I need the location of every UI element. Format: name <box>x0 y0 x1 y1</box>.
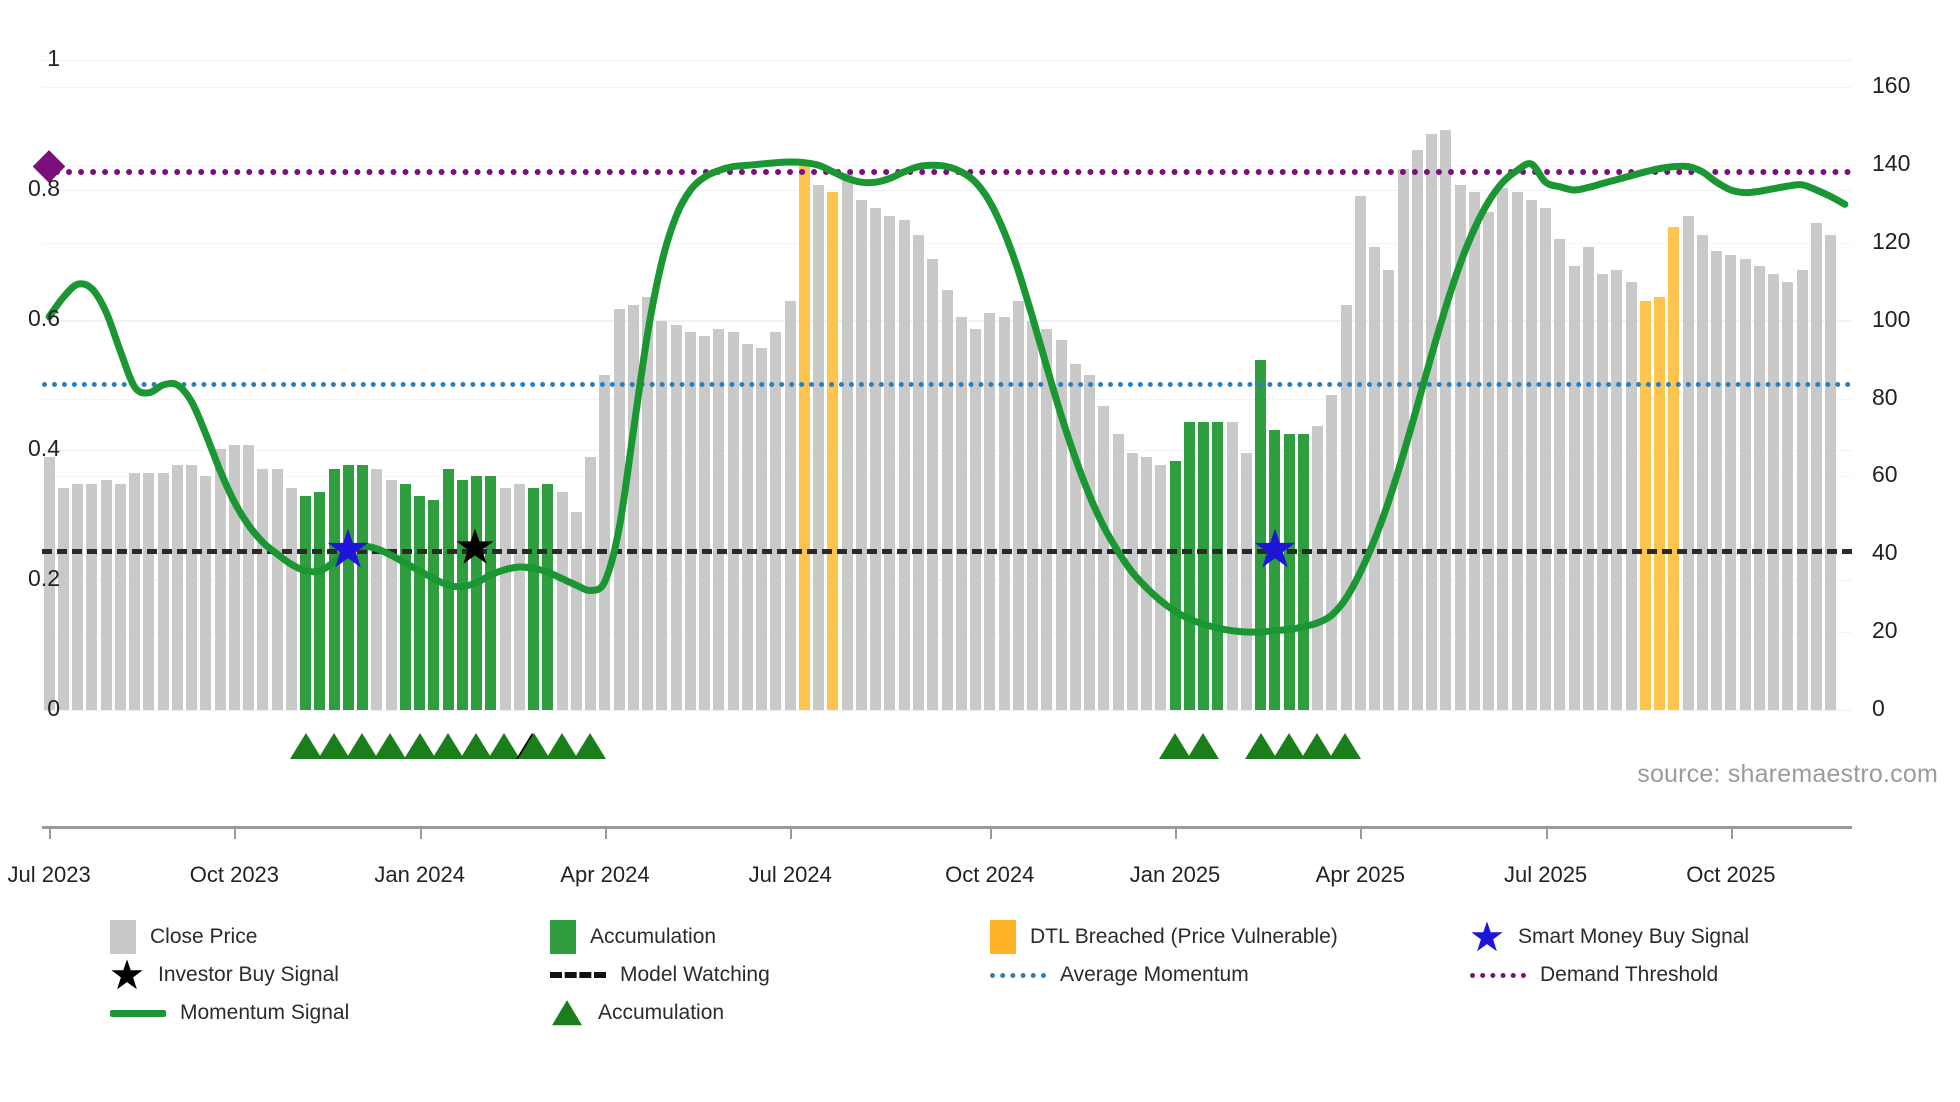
legend-item-label: DTL Breached (Price Vulnerable) <box>1030 925 1338 949</box>
x-axis-tick-label: Oct 2025 <box>1686 862 1775 888</box>
y-axis-right-tick-label: 100 <box>1872 306 1952 333</box>
accumulation-triangle-icon <box>574 733 606 759</box>
legend-item-accumulation-tri[interactable]: Accumulation <box>550 996 990 1030</box>
x-axis-tick-mark <box>49 826 51 839</box>
y-axis-left-tick-label: 0.8 <box>0 175 60 202</box>
x-axis-tick-label: Oct 2024 <box>945 862 1034 888</box>
x-axis-tick-label: Jul 2024 <box>749 862 832 888</box>
accumulation-triangle-icon <box>374 733 406 759</box>
x-axis-tick-label: Jul 2025 <box>1504 862 1587 888</box>
source-attribution: source: sharemaestro.com <box>1637 760 1938 789</box>
x-axis-tick-mark <box>1360 826 1362 839</box>
x-axis-tick-mark <box>990 826 992 839</box>
legend-item-label: Close Price <box>150 925 257 949</box>
y-axis-right-tick-label: 20 <box>1872 617 1952 644</box>
x-axis-tick-label: Jan 2024 <box>374 862 465 888</box>
x-axis-tick-label: Jul 2023 <box>8 862 91 888</box>
legend-item-demand-threshold[interactable]: Demand Threshold <box>1470 963 1950 987</box>
chart-legend: Close PriceAccumulationDTL Breached (Pri… <box>110 918 1950 1032</box>
legend-item-label: Investor Buy Signal <box>158 963 339 987</box>
accumulation-triangle-cluster <box>1245 733 1357 759</box>
legend-item-label: Accumulation <box>590 925 716 949</box>
y-axis-right-tick-label: 80 <box>1872 384 1952 411</box>
legend-swatch-star-icon <box>1470 920 1504 954</box>
smart-money-buy-signal-star-icon <box>326 527 370 571</box>
accumulation-triangle-cluster <box>290 733 402 759</box>
x-axis-tick-mark <box>420 826 422 839</box>
plot-area <box>42 60 1852 710</box>
y-axis-left-tick-label: 1 <box>0 45 60 72</box>
x-axis-tick-label: Apr 2024 <box>560 862 649 888</box>
legend-item-dtl-breached[interactable]: DTL Breached (Price Vulnerable) <box>990 920 1470 954</box>
legend-swatch-triangle-icon <box>550 996 584 1030</box>
accumulation-triangle-cluster <box>518 733 602 759</box>
y-axis-left-tick-label: 0 <box>0 695 60 722</box>
legend-swatch-star-icon <box>110 958 144 992</box>
y-axis-right-tick-label: 0 <box>1872 695 1952 722</box>
x-axis-tick-label: Jan 2025 <box>1130 862 1221 888</box>
x-axis-tick-mark <box>605 826 607 839</box>
legend-item-label: Model Watching <box>620 963 770 987</box>
legend-item-smart-money-buy[interactable]: Smart Money Buy Signal <box>1470 920 1950 954</box>
y-axis-right-tick-label: 160 <box>1872 72 1952 99</box>
x-axis-tick-mark <box>234 826 236 839</box>
legend-item-accumulation-bar[interactable]: Accumulation <box>550 920 990 954</box>
y-axis-right-tick-label: 120 <box>1872 228 1952 255</box>
legend-item-average-momentum[interactable]: Average Momentum <box>990 963 1470 987</box>
legend-item-model-watching[interactable]: Model Watching <box>550 963 990 987</box>
legend-item-label: Momentum Signal <box>180 1001 349 1025</box>
smart-money-buy-signal-star-icon <box>1253 527 1297 571</box>
y-axis-right-tick-label: 40 <box>1872 539 1952 566</box>
y-axis-right-tick-label: 60 <box>1872 461 1952 488</box>
investor-buy-signal-star-icon <box>455 527 499 571</box>
x-axis-tick-mark <box>1546 826 1548 839</box>
accumulation-triangle-icon <box>1329 733 1361 759</box>
x-axis-tick-mark <box>1175 826 1177 839</box>
momentum-signal-line <box>42 60 1852 710</box>
y-axis-left-tick-label: 0.6 <box>0 305 60 332</box>
legend-swatch-rect-icon <box>110 920 136 954</box>
legend-item-label: Average Momentum <box>1060 963 1249 987</box>
legend-item-label: Demand Threshold <box>1540 963 1718 987</box>
legend-swatch-dotted-icon <box>1470 973 1526 978</box>
legend-item-investor-buy[interactable]: Investor Buy Signal <box>110 958 550 992</box>
legend-item-label: Accumulation <box>598 1001 724 1025</box>
legend-swatch-dashed-icon <box>550 972 606 978</box>
x-axis-tick-label: Oct 2023 <box>190 862 279 888</box>
momentum-signal-path <box>49 162 1845 632</box>
accumulation-triangle-icon <box>1187 733 1219 759</box>
gridline-left-0 <box>42 710 1852 711</box>
y-axis-left-tick-label: 0.4 <box>0 435 60 462</box>
legend-swatch-rect-icon <box>550 920 576 954</box>
x-axis-line <box>42 826 1852 829</box>
legend-swatch-dotted-icon <box>990 973 1046 978</box>
accumulation-triangle-cluster <box>1159 733 1215 759</box>
x-axis-tick-label: Apr 2025 <box>1316 862 1405 888</box>
chart-root: 10.80.60.40.20 160140120100806040200 Jul… <box>0 0 1960 1102</box>
legend-item-close-price[interactable]: Close Price <box>110 920 550 954</box>
x-axis-tick-mark <box>790 826 792 839</box>
legend-item-momentum-signal[interactable]: Momentum Signal <box>110 1001 550 1025</box>
x-axis-tick-mark <box>1731 826 1733 839</box>
y-axis-left-tick-label: 0.2 <box>0 565 60 592</box>
y-axis-right-tick-label: 140 <box>1872 150 1952 177</box>
legend-swatch-line-icon <box>110 1010 166 1017</box>
legend-swatch-rect-icon <box>990 920 1016 954</box>
legend-item-label: Smart Money Buy Signal <box>1518 925 1749 949</box>
